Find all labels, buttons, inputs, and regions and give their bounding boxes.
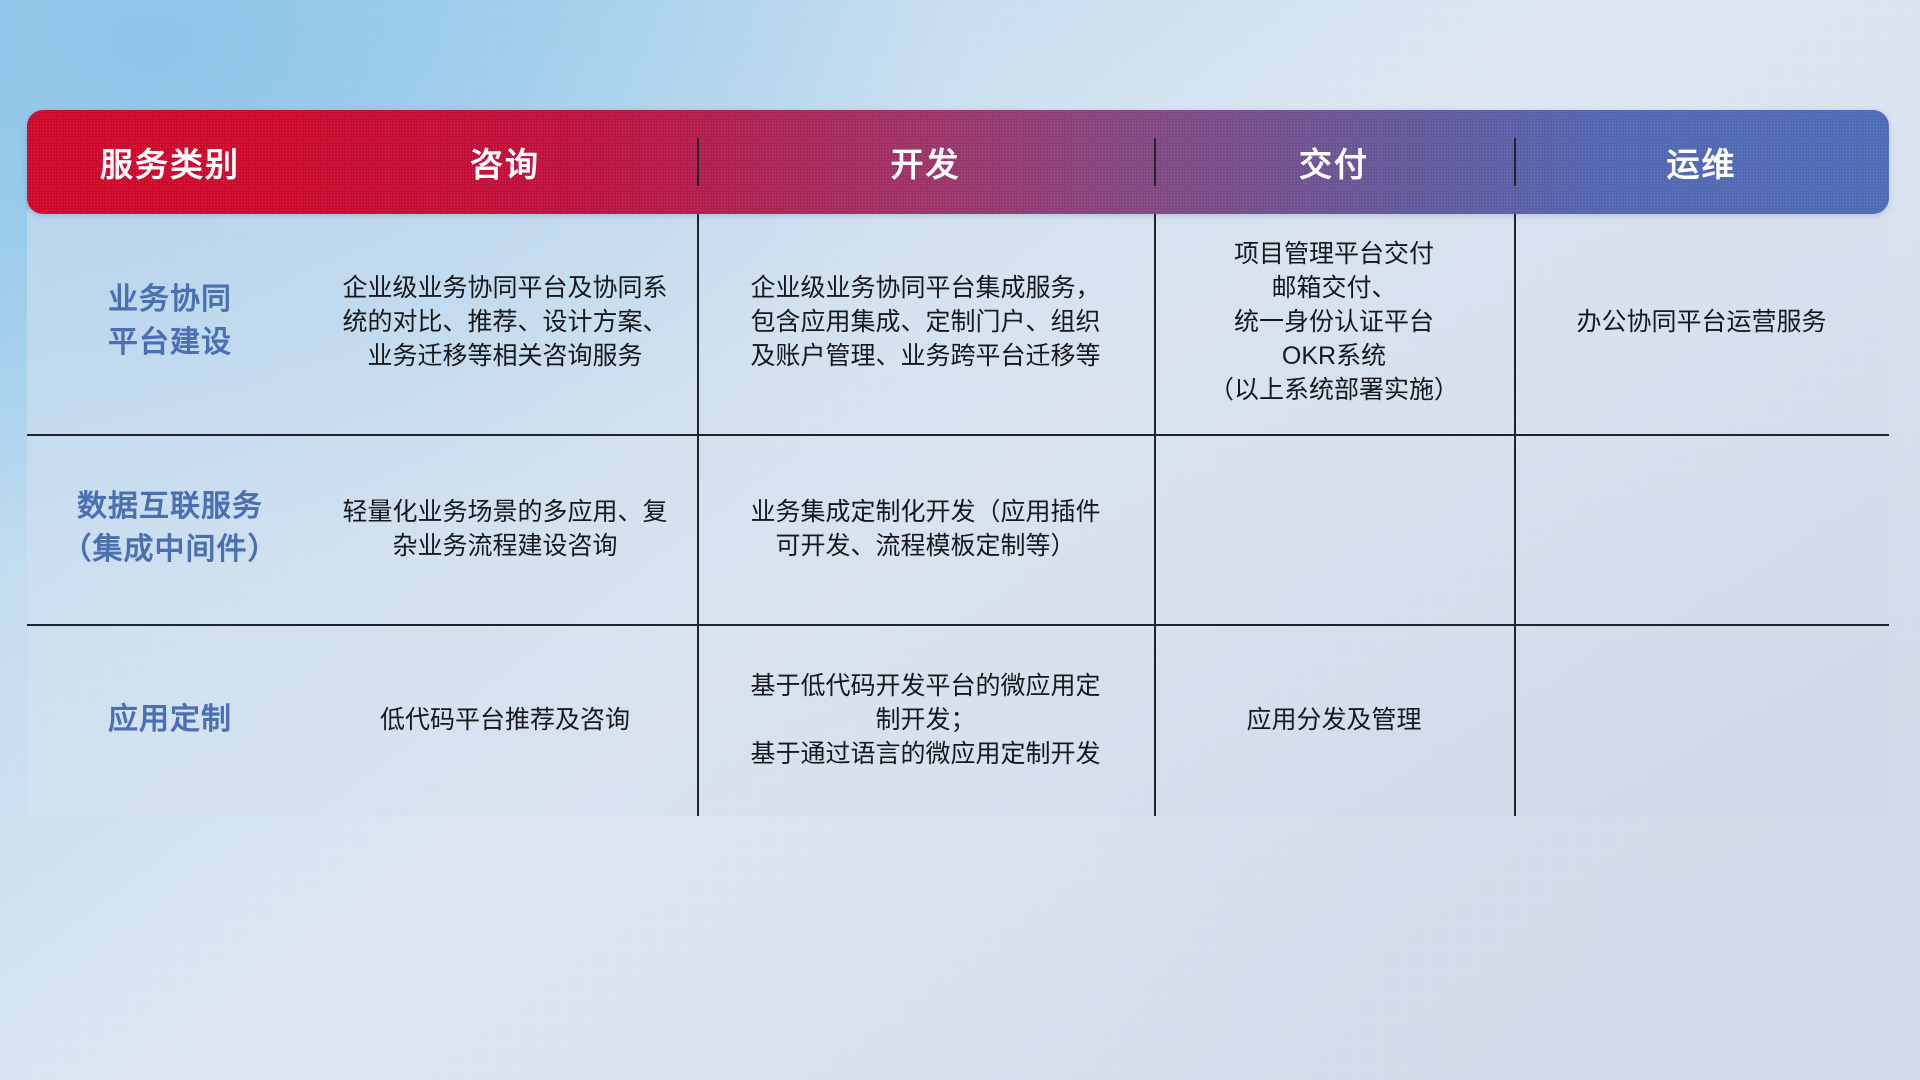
category-label: 应用定制 [108,699,232,742]
table-header-row: 服务类别 咨询 开发 交付 运维 [27,110,1889,214]
table-cell-consulting: 企业级业务协同平台及协同系 统的对比、推荐、设计方案、 业务迁移等相关咨询服务 [313,210,697,434]
table-cell-category: 应用定制 [27,624,313,816]
table-row: 数据互联服务 （集成中间件） 轻量化业务场景的多应用、复 杂业务流程建设咨询 业… [27,434,1889,624]
table-cell-development: 基于低代码开发平台的微应用定 制开发； 基于通过语言的微应用定制开发 [697,624,1154,816]
category-label: 数据互联服务 （集成中间件） [62,486,279,571]
cell-text: 企业级业务协同平台集成服务， 包含应用集成、定制门户、组织 及账户管理、业务跨平… [750,271,1100,373]
cell-text: 项目管理平台交付 邮箱交付、 统一身份认证平台 OKR系统 （以上系统部署实施） [1209,237,1459,407]
table-header-cell-category: 服务类别 [27,138,313,186]
table-header-cell-operations: 运维 [1514,138,1889,186]
table-header-cell-development: 开发 [697,138,1154,186]
cell-text: 基于低代码开发平台的微应用定 制开发； 基于通过语言的微应用定制开发 [750,669,1100,771]
table-cell-development: 业务集成定制化开发（应用插件 可开发、流程模板定制等） [697,434,1154,624]
table-cell-operations [1514,624,1889,816]
service-category-table: 服务类别 咨询 开发 交付 运维 业务协同 平台建设 企业级业务协同平台及协同系… [27,110,1889,783]
cell-text: 办公协同平台运营服务 [1576,305,1826,339]
table-cell-consulting: 轻量化业务场景的多应用、复 杂业务流程建设咨询 [313,434,697,624]
table-cell-operations [1514,434,1889,624]
table-cell-category: 业务协同 平台建设 [27,210,313,434]
cell-text: 应用分发及管理 [1246,703,1421,737]
table-cell-delivery [1154,434,1514,624]
cell-text: 业务集成定制化开发（应用插件 可开发、流程模板定制等） [750,495,1100,563]
category-label: 业务协同 平台建设 [108,279,232,364]
table-body: 业务协同 平台建设 企业级业务协同平台及协同系 统的对比、推荐、设计方案、 业务… [27,210,1889,816]
table-header-cell-delivery: 交付 [1154,138,1514,186]
cell-text: 轻量化业务场景的多应用、复 杂业务流程建设咨询 [342,495,667,563]
table-header-cell-consulting: 咨询 [313,138,697,186]
table-cell-category: 数据互联服务 （集成中间件） [27,434,313,624]
table-cell-operations: 办公协同平台运营服务 [1514,210,1889,434]
table-cell-delivery: 项目管理平台交付 邮箱交付、 统一身份认证平台 OKR系统 （以上系统部署实施） [1154,210,1514,434]
table-cell-development: 企业级业务协同平台集成服务， 包含应用集成、定制门户、组织 及账户管理、业务跨平… [697,210,1154,434]
table-row: 业务协同 平台建设 企业级业务协同平台及协同系 统的对比、推荐、设计方案、 业务… [27,210,1889,434]
cell-text: 低代码平台推荐及咨询 [380,703,630,737]
table-cell-delivery: 应用分发及管理 [1154,624,1514,816]
table-cell-consulting: 低代码平台推荐及咨询 [313,624,697,816]
table: 服务类别 咨询 开发 交付 运维 业务协同 平台建设 企业级业务协同平台及协同系… [27,110,1889,783]
cell-text: 企业级业务协同平台及协同系 统的对比、推荐、设计方案、 业务迁移等相关咨询服务 [342,271,667,373]
table-row: 应用定制 低代码平台推荐及咨询 基于低代码开发平台的微应用定 制开发； 基于通过… [27,624,1889,816]
